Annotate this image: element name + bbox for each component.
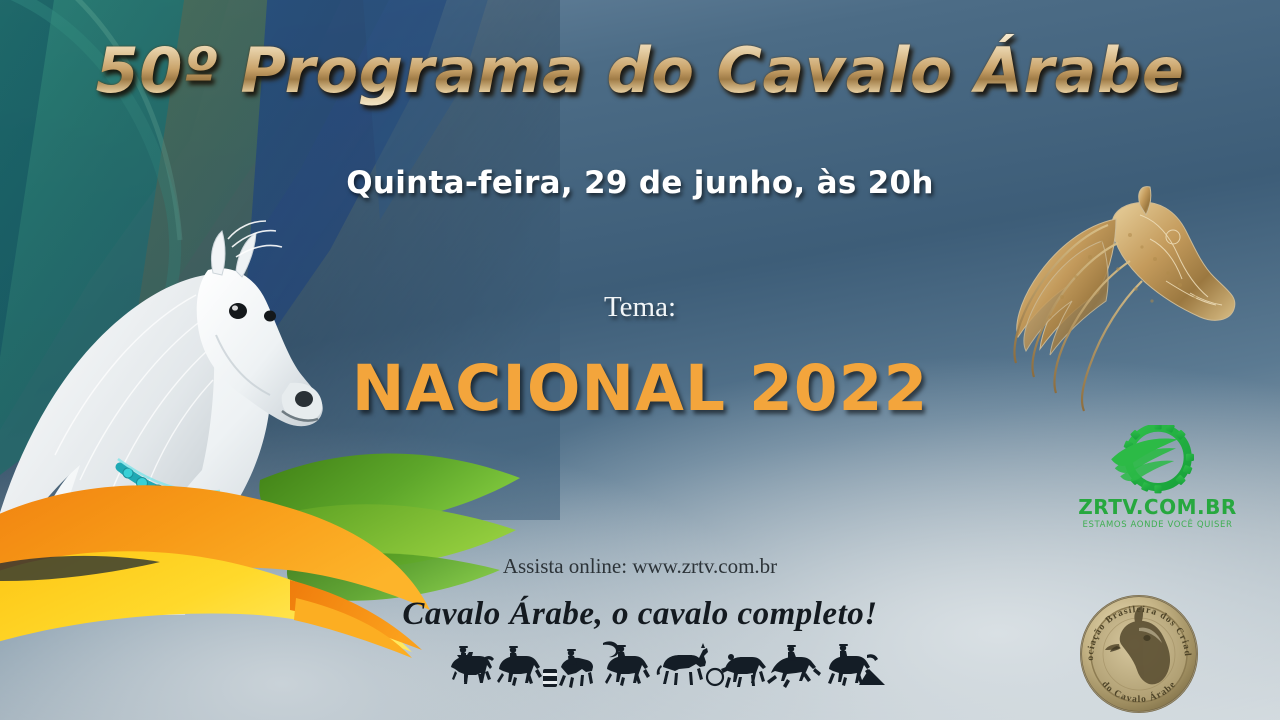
theme-value: NACIONAL 2022: [0, 352, 1280, 425]
event-datetime: Quinta-feira, 29 de junho, às 20h: [0, 165, 1280, 201]
watch-online-text: Assista online: www.zrtv.com.br: [0, 554, 1280, 579]
zrtv-gear-icon: [1103, 425, 1213, 497]
zrtv-name-text: ZRTV.COM.BR: [1075, 495, 1240, 519]
equestrian-discipline-silhouettes: [445, 641, 885, 697]
theme-label: Tema:: [0, 291, 1280, 324]
page-title: 50º Programa do Cavalo Árabe: [0, 34, 1280, 107]
zrtv-tagline-text: ESTAMOS AONDE VOCÊ QUISER: [1075, 520, 1240, 530]
event-poster: 50º Programa do Cavalo Árabe Quinta-feir…: [0, 0, 1280, 720]
abcca-medal-logo[interactable]: Associação Brasileira dos Criadores do C…: [1073, 588, 1205, 720]
zrtv-logo[interactable]: ZRTV.COM.BR ESTAMOS AONDE VOCÊ QUISER: [1075, 425, 1240, 535]
